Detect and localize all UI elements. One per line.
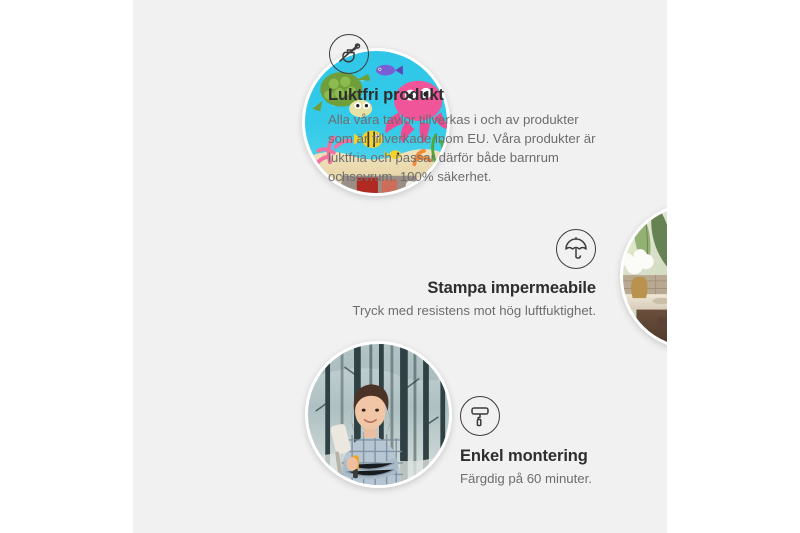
paint-roller-icon — [460, 396, 500, 436]
content-panel: Luktfri produkt Alla våra tavlor tillver… — [133, 0, 667, 533]
feature-title: Luktfri produkt — [328, 85, 628, 106]
feature-odourless: Luktfri produkt Alla våra tavlor tillver… — [328, 34, 628, 186]
promo-feature-graphic: Luktfri produkt Alla våra tavlor tillver… — [0, 0, 800, 533]
umbrella-icon — [556, 229, 596, 269]
feature-body: Färgdig på 60 minuter. — [460, 470, 667, 489]
feature-body: Alla våra tavlor tillverkas i och av pro… — [328, 111, 604, 186]
photo-bathroom-tropical-wallpaper — [620, 203, 667, 350]
feature-waterproof: Stampa impermeabile Tryck med resistens … — [338, 229, 596, 321]
no-perfume-icon — [329, 34, 369, 74]
feature-body: Tryck med resistens mot hög luftfuktighe… — [338, 302, 596, 321]
photo-woman-paint-roller-forest — [305, 341, 452, 488]
feature-title: Stampa impermeabile — [338, 278, 596, 299]
feature-title: Enkel montering — [460, 446, 667, 467]
feature-easy-mounting: Enkel montering Färgdig på 60 minuter. — [460, 396, 667, 489]
